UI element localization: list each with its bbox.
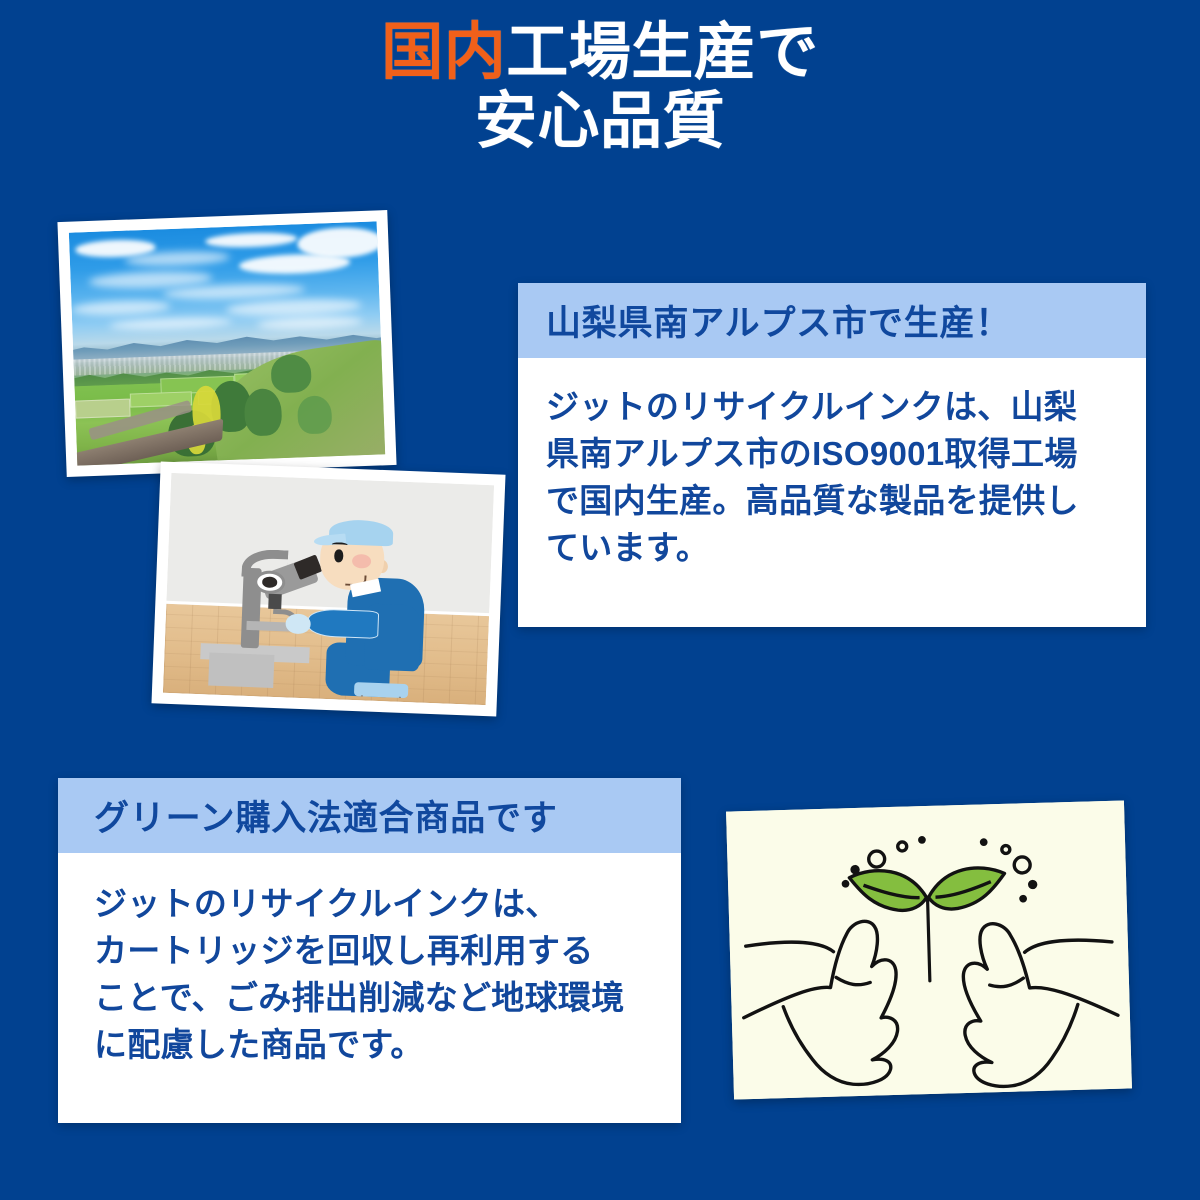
- microscope-base: [208, 653, 274, 688]
- headline-line-1-rest: 工場生産で: [506, 18, 819, 87]
- worker-eyebrow: [332, 542, 348, 547]
- microscope-illustration: [151, 461, 505, 716]
- promo-banner: 国内工場生産で 安心品質: [0, 0, 1200, 1200]
- microscope-photo-inner: [163, 473, 494, 705]
- card-yamanashi-line-1: ジットのリサイクルインクは、山梨: [546, 384, 1126, 431]
- card-yamanashi-line-3: で国内生産。高品質な製品を提供し: [546, 478, 1126, 525]
- card-yamanashi-line-4: ています。: [546, 525, 1126, 572]
- card-green-header: グリーン購入法適合商品です: [58, 778, 681, 853]
- page-title: 国内工場生産で 安心品質: [0, 18, 1200, 157]
- microscope-objective: [268, 593, 281, 609]
- microscope-lens: [254, 570, 286, 594]
- headline-accent-text: 国内: [381, 18, 506, 87]
- headline-line-2: 安心品質: [0, 87, 1200, 156]
- lab-scene: [163, 473, 494, 705]
- info-card-green-purchase: グリーン購入法適合商品です ジットのリサイクルインクは、 カートリッジを回収し再…: [58, 778, 681, 1123]
- landscape-photo: [57, 210, 396, 477]
- card-yamanashi-body: ジットのリサイクルインクは、山梨 県南アルプス市のISO9001取得工場 で国内…: [518, 358, 1146, 595]
- landscape-scene: [69, 221, 385, 465]
- card-green-line-1: ジットのリサイクルインクは、: [94, 881, 661, 928]
- card-yamanashi-header: 山梨県南アルプス市で生産！: [518, 283, 1146, 358]
- worker-eye: [334, 550, 343, 562]
- card-green-line-2: カートリッジを回収し再利用する: [94, 928, 661, 975]
- landscape-photo-inner: [69, 221, 385, 465]
- headline-line-1: 国内工場生産で: [0, 18, 1200, 87]
- hands-with-sprout-icon: [726, 800, 1132, 1099]
- eco-scene: [726, 800, 1132, 1099]
- card-yamanashi-line-2: 県南アルプス市のISO9001取得工場: [546, 431, 1126, 478]
- card-green-line-4: に配慮した商品です。: [94, 1022, 661, 1069]
- info-card-yamanashi: 山梨県南アルプス市で生産！ ジットのリサイクルインクは、山梨 県南アルプス市のI…: [518, 283, 1146, 627]
- road-foreground: [69, 419, 223, 466]
- eco-illustration: [726, 800, 1132, 1099]
- card-green-body: ジットのリサイクルインクは、 カートリッジを回収し再利用する ことで、ごみ排出削…: [58, 853, 681, 1092]
- worker-chair: [353, 682, 408, 697]
- card-green-line-3: ことで、ごみ排出削減など地球環境: [94, 975, 661, 1022]
